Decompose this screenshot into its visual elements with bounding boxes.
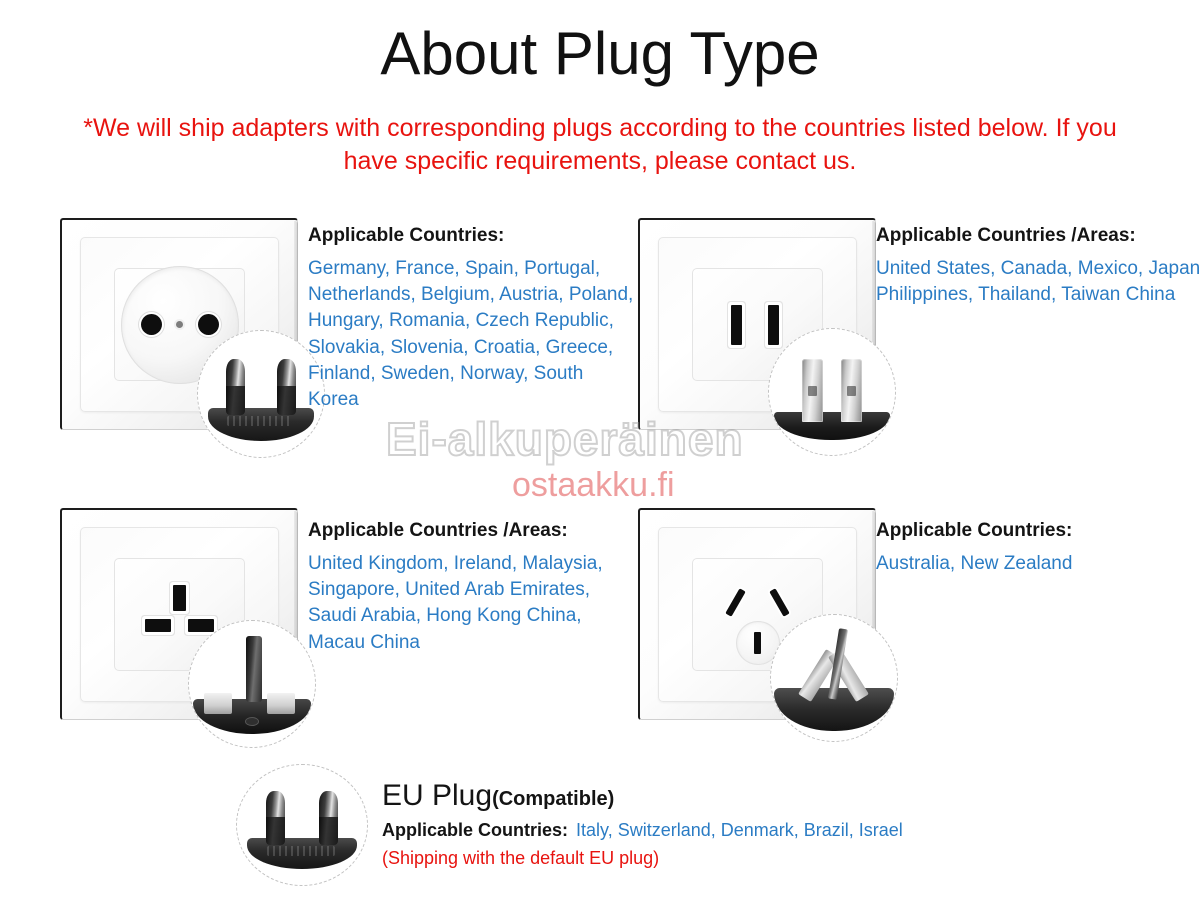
compatible-countries-row: Applicable Countries:Italy, Switzerland,…: [382, 820, 903, 841]
country-heading: Applicable Countries:: [308, 225, 638, 247]
eu-socket-hole-right: [198, 314, 219, 335]
shipping-note: *We will ship adapters with correspondin…: [60, 112, 1140, 178]
country-list: Australia, New Zealand: [876, 551, 1200, 577]
uk-socket-earth-slot: [173, 585, 186, 611]
us-socket-slot-left: [731, 305, 742, 345]
eu-plug-icon: [197, 330, 325, 458]
compatible-countries-list: Italy, Switzerland, Denmark, Brazil, Isr…: [576, 820, 903, 840]
uk-plug-pin-right: [267, 693, 295, 714]
country-list: United Kingdom, Ireland, Malaysia, Singa…: [308, 551, 638, 656]
eu-plug-body: [208, 408, 314, 441]
country-list: United States, Canada, Mexico, Japan, Ph…: [876, 256, 1200, 308]
eu-socket-center-pin: [176, 321, 183, 328]
us-socket-slot-right: [768, 305, 779, 345]
compatible-title-main: EU Plug: [382, 779, 492, 812]
plug-card-eu: EU Plug: [60, 218, 300, 468]
us-plug-blade-right: [841, 359, 862, 422]
uk-plug-earth-pin: [246, 636, 262, 702]
eu-plug-body: [247, 838, 356, 869]
country-block-au: Applicable Countries: Australia, New Zea…: [876, 520, 1200, 577]
country-block-uk: Applicable Countries /Areas: United King…: [308, 520, 638, 656]
plug-card-au: AU Plug: [638, 508, 878, 758]
au-socket-earth-slot: [754, 632, 761, 654]
eu-plug-pin-right: [319, 791, 339, 845]
uk-plug-pin-left: [204, 693, 232, 714]
plug-card-uk: UK Plug: [60, 508, 300, 758]
eu-plug-pin-left: [226, 359, 245, 416]
country-block-eu: Applicable Countries: Germany, France, S…: [308, 225, 638, 413]
plug-card-us: US Plug: [638, 218, 878, 468]
us-plug-blade-left: [802, 359, 823, 422]
compatible-countries-heading: Applicable Countries:: [382, 820, 568, 840]
au-socket-slot-right: [769, 588, 790, 617]
plug-type-infographic: About Plug Type *We will ship adapters w…: [0, 0, 1200, 900]
eu-plug-pin-right: [277, 359, 296, 416]
country-block-us: Applicable Countries /Areas: United Stat…: [876, 225, 1200, 308]
compatible-title: EU Plug(Compatible): [382, 779, 614, 813]
country-heading: Applicable Countries:: [876, 520, 1200, 542]
country-heading: Applicable Countries /Areas:: [876, 225, 1200, 247]
uk-socket-slot-left: [145, 619, 171, 632]
us-plug-icon: [768, 328, 896, 456]
page-title: About Plug Type: [0, 22, 1200, 85]
uk-plug-icon: [188, 620, 316, 748]
uk-socket-slot-right: [188, 619, 214, 632]
eu-plug-pin-left: [266, 791, 286, 845]
country-list: Germany, France, Spain, Portugal, Nether…: [308, 256, 638, 413]
country-heading: Applicable Countries /Areas:: [308, 520, 638, 542]
compatible-title-suffix: (Compatible): [492, 788, 614, 810]
eu-socket-hole-left: [141, 314, 162, 335]
eu-compatible-plug-icon: [236, 764, 368, 886]
watermark-secondary: ostaakku.fi: [512, 466, 675, 505]
au-socket-slot-left: [726, 588, 747, 617]
compatible-shipping-note: (Shipping with the default EU plug): [382, 848, 659, 869]
us-plug-body: [774, 412, 890, 440]
au-plug-icon: [770, 614, 898, 742]
